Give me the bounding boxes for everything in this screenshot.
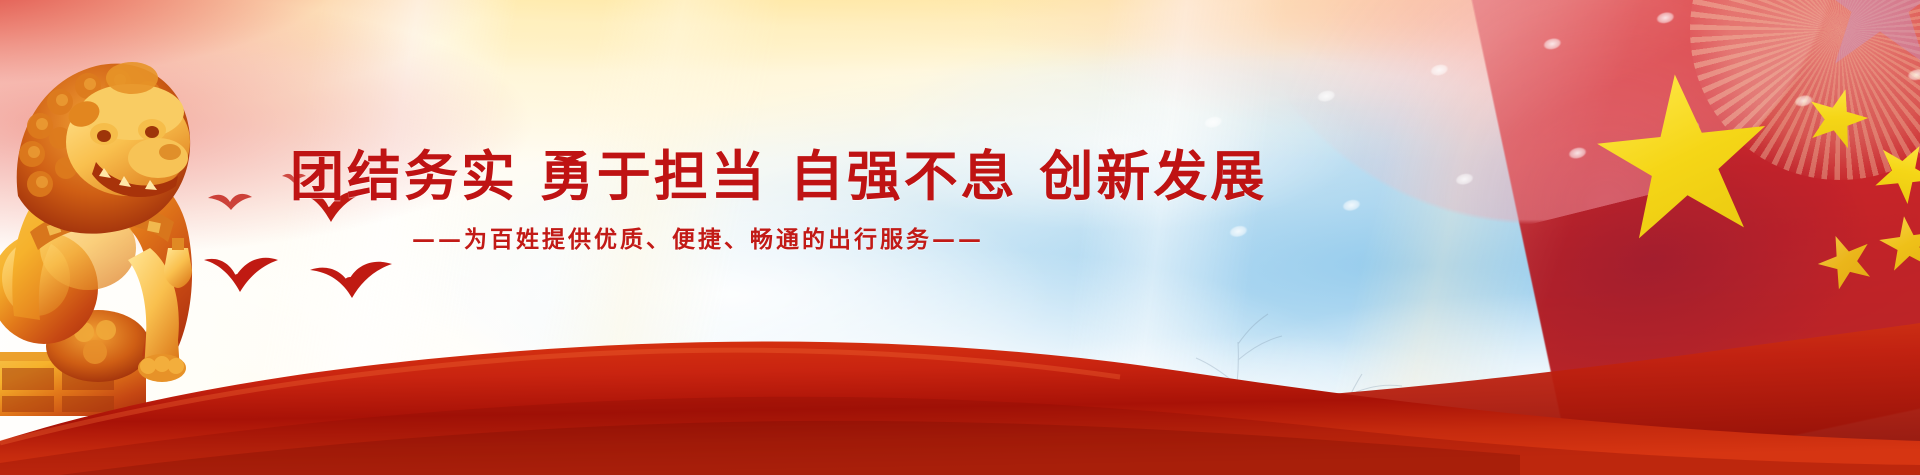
banner-text-block: 团结务实 勇于担当 自强不息 创新发展 ——为百姓提供优质、便捷、畅通的出行服务… bbox=[290, 146, 1090, 254]
patriotic-banner: 团结务实 勇于担当 自强不息 创新发展 ——为百姓提供优质、便捷、畅通的出行服务… bbox=[0, 0, 1920, 475]
banner-headline: 团结务实 勇于担当 自强不息 创新发展 bbox=[290, 146, 1090, 206]
red-silk-ribbon bbox=[0, 265, 1920, 475]
banner-subtitle: ——为百姓提供优质、便捷、畅通的出行服务—— bbox=[412, 220, 1090, 254]
